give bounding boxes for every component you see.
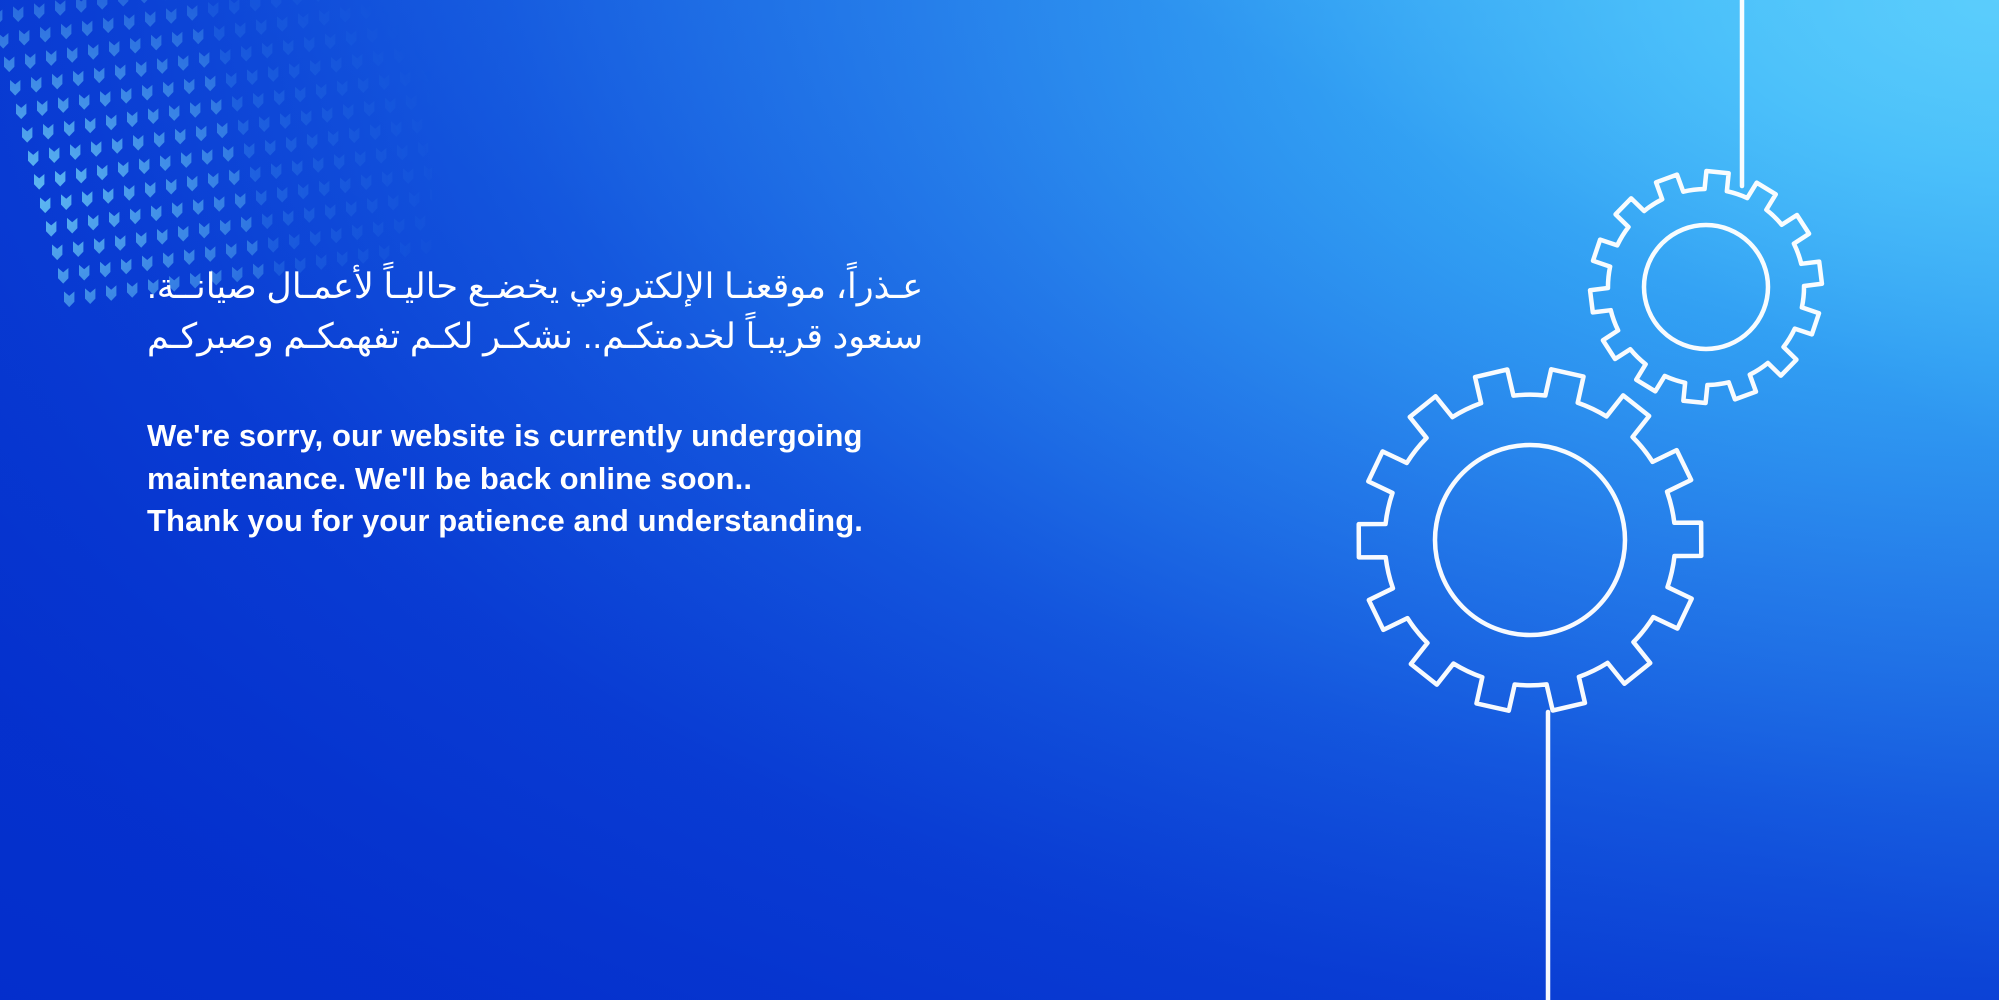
english-message: We're sorry, our website is currently un… (147, 362, 1147, 543)
maintenance-page: عـذراً، موقعنـا الإلكتروني يخضـع حاليـاً… (0, 0, 1999, 1000)
arabic-line-1: عـذراً، موقعنـا الإلكتروني يخضـع حاليـاً… (147, 262, 1147, 312)
arabic-message: عـذراً، موقعنـا الإلكتروني يخضـع حاليـاً… (147, 262, 1147, 362)
english-line-1: We're sorry, our website is currently un… (147, 415, 1147, 458)
english-line-2: maintenance. We'll be back online soon.. (147, 458, 1147, 501)
english-line-3: Thank you for your patience and understa… (147, 500, 1147, 543)
arabic-line-2: سنعود قريبـاً لخدمتكـم.. نشكـر لكـم تفهم… (147, 312, 1147, 362)
maintenance-message: عـذراً، موقعنـا الإلكتروني يخضـع حاليـاً… (147, 262, 1147, 543)
